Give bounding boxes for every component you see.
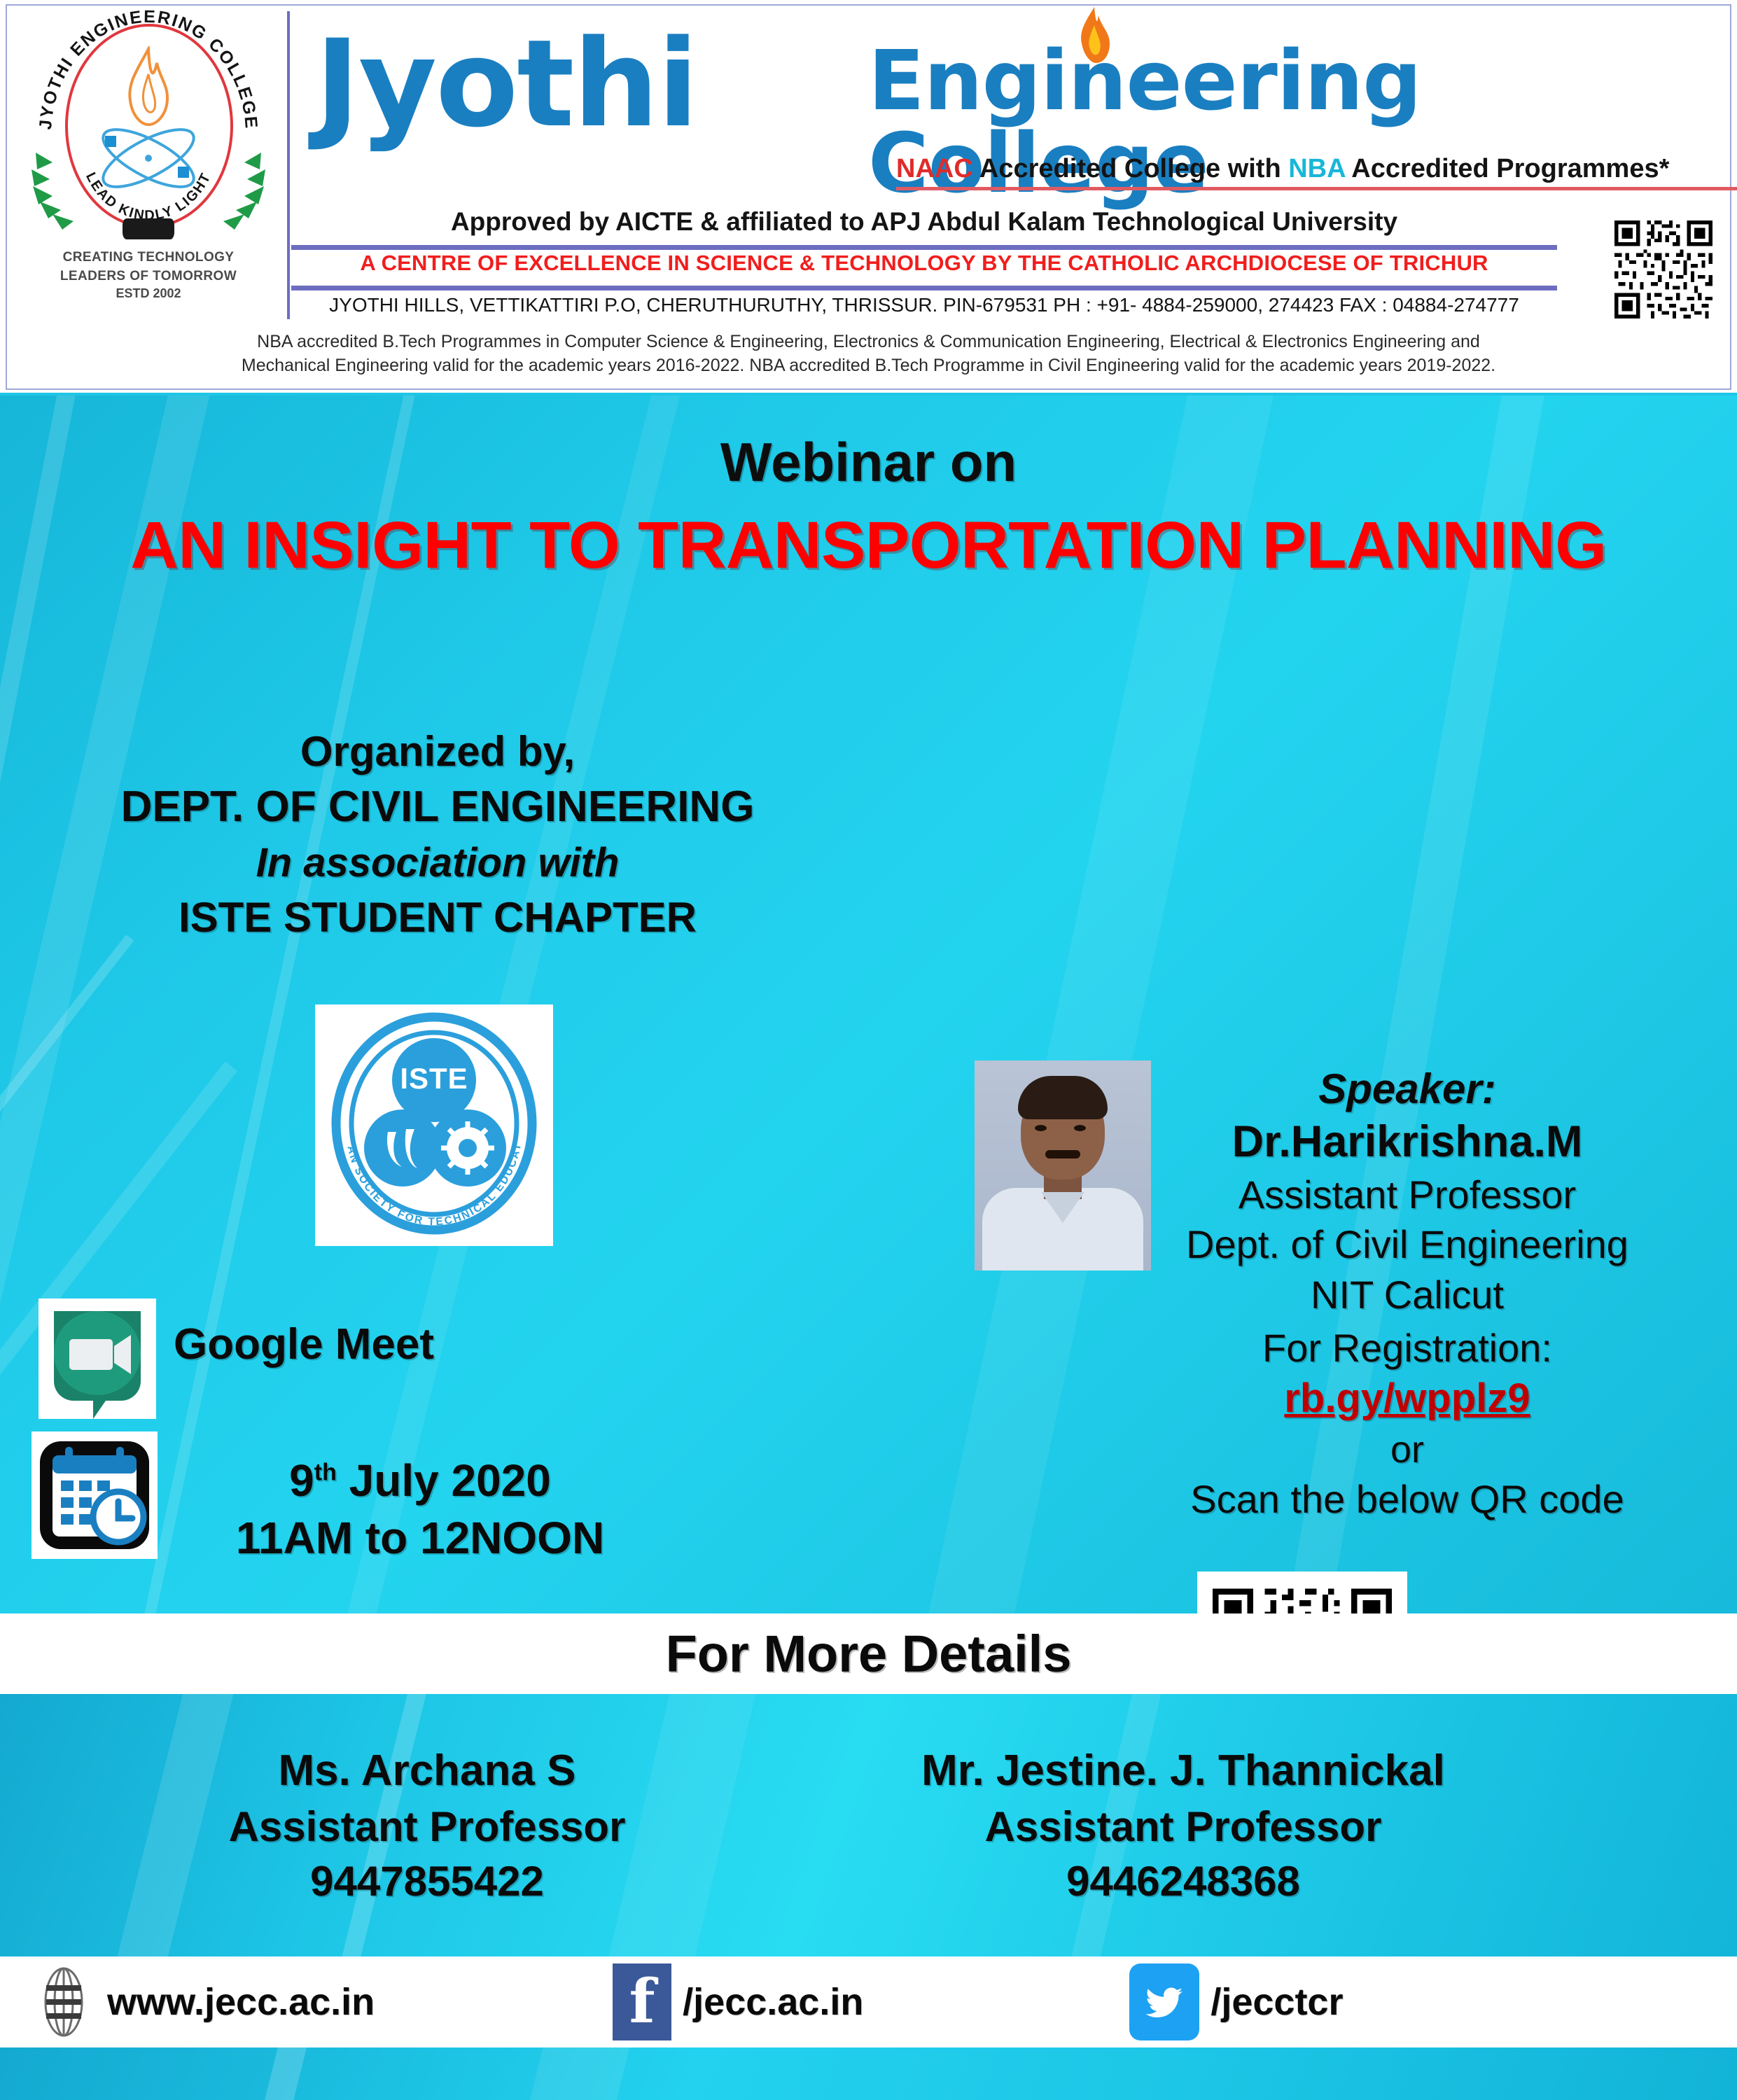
naac-label: NAAC [896,154,973,183]
iste-logo-icon: ISTE [315,1004,553,1246]
google-meet-icon [39,1298,156,1419]
nba-note-line1: NBA accredited B.Tech Programmes in Comp… [28,330,1709,354]
event-time: 11AM to 12NOON [175,1510,665,1567]
letterhead-content: Jyothi Engineering College NAAC Accredit… [301,7,1727,154]
speaker-label: Speaker: [1092,1064,1722,1114]
rule-top [291,245,1557,250]
nba-note-line2: Mechanical Engineering valid for the aca… [28,354,1709,378]
atom-icon [92,126,204,190]
brand-row: Jyothi Engineering College [301,7,1727,154]
college-address: JYOTHI HILLS, VETTIKATTIRI P.O, CHERUTHU… [291,294,1557,316]
event-date-rest: July 2020 [337,1455,551,1506]
logo-tagline-line1: CREATING TECHNOLOGY [15,249,281,265]
contacts-section: Ms. Archana S Assistant Professor 944785… [0,1694,1737,1956]
brand-flame-icon [1075,7,1114,64]
bg-streak [511,2047,636,2100]
poster-body: Webinar on AN INSIGHT TO TRANSPORTATION … [0,395,1737,1613]
scan-qr-instruction: Scan the below QR code [1092,1474,1722,1525]
calendar-clock-icon [32,1431,158,1559]
logo-estd: ESTD 2002 [15,286,281,301]
twitter-icon [1129,1963,1199,2040]
event-datetime: 9th July 2020 11AM to 12NOON [175,1452,665,1567]
event-date: 9th July 2020 [175,1452,665,1510]
footer-twitter-label: /jecctcr [1211,1980,1343,2024]
organizer-block: Organized by, DEPT. OF CIVIL ENGINEERING… [42,724,833,945]
speaker-name: Dr.Harikrishna.M [1092,1114,1722,1170]
footer-facebook-label: /jecc.ac.in [683,1980,863,2024]
contact-card: Ms. Archana S Assistant Professor 944785… [77,1743,777,1909]
contact-phone[interactable]: 9447855422 [77,1854,777,1909]
platform-label: Google Meet [174,1319,434,1369]
contact-phone[interactable]: 9446248368 [833,1854,1533,1909]
naac-suffix-text: Accredited Programmes* [1345,154,1669,183]
more-details-heading: For More Details [666,1624,1072,1683]
event-title: AN INSIGHT TO TRANSPORTATION PLANNING [0,507,1737,584]
footer-website-item[interactable]: www.jecc.ac.in [32,1967,375,2037]
speaker-moustache [1045,1150,1080,1158]
registration-label: For Registration: [1092,1323,1722,1373]
letterhead-qr-code-icon [1611,217,1716,322]
speaker-department: Dept. of Civil Engineering [1092,1219,1722,1270]
letterhead-divider [287,11,290,319]
speaker-institute: NIT Calicut [1092,1270,1722,1320]
laurel-right-icon [191,148,268,232]
contact-role: Assistant Professor [833,1800,1533,1854]
footer-facebook-item[interactable]: /jecc.ac.in [613,1963,863,2040]
speaker-details: Speaker: Dr.Harikrishna.M Assistant Prof… [1092,1064,1722,1525]
registration-qr-code[interactable] [1197,1571,1407,1613]
iste-logo-card: ISTE [315,1004,553,1246]
or-label: or [1092,1425,1722,1474]
bg-streak [244,2047,316,2100]
college-emblem-icon: JYOTHI ENGINEERING COLLEGE LEAD KINDLY L… [33,8,264,246]
approved-by-text: Approved by AICTE & affiliated to APJ Ab… [301,207,1547,237]
organizer-partner: ISTE STUDENT CHAPTER [42,890,833,945]
speaker-eye-left [1035,1125,1047,1131]
footer-twitter-item[interactable]: /jecctcr [1129,1963,1343,2040]
college-letterhead: JYOTHI ENGINEERING COLLEGE LEAD KINDLY L… [0,0,1737,395]
event-kicker: Webinar on [0,430,1737,494]
book-icon [123,218,174,239]
in-association-with-label: In association with [42,836,833,890]
speaker-eye-right [1074,1125,1086,1131]
rule-bottom [291,286,1557,290]
registration-link[interactable]: rb.gy/wpplz9 [1092,1373,1722,1424]
contact-card: Mr. Jestine. J. Thannickal Assistant Pro… [833,1743,1533,1909]
facebook-icon [613,1963,671,2040]
globe-icon [32,1967,96,2037]
contact-role: Assistant Professor [77,1800,777,1854]
event-date-day: 9 [289,1455,314,1506]
laurel-left-icon [29,148,106,232]
contact-name: Mr. Jestine. J. Thannickal [833,1743,1533,1800]
organizer-department: DEPT. OF CIVIL ENGINEERING [42,779,833,836]
footer-website-label: www.jecc.ac.in [107,1980,375,2024]
registration-qr-code-icon [1207,1581,1397,1613]
event-date-suffix: th [314,1459,337,1486]
naac-mid-text: Accredited College with [973,154,1288,183]
speaker-designation: Assistant Professor [1092,1170,1722,1220]
svg-text:ISTE: ISTE [400,1062,468,1095]
college-logo: JYOTHI ENGINEERING COLLEGE LEAD KINDLY L… [15,8,281,337]
more-details-band: For More Details [0,1613,1737,1694]
footer-bar: www.jecc.ac.in /jecc.ac.in /jecctcr [0,1956,1737,2047]
webinar-poster: JYOTHI ENGINEERING COLLEGE LEAD KINDLY L… [0,0,1737,2100]
organized-by-label: Organized by, [42,724,833,779]
logo-tagline-line2: LEADERS OF TOMORROW [15,268,281,284]
bottom-strip [0,2047,1737,2100]
nba-label: NBA [1288,154,1345,183]
brand-name-primary: Jyothi [315,24,697,144]
nba-accreditation-note: NBA accredited B.Tech Programmes in Comp… [28,330,1709,378]
naac-accreditation-line: NAAC Accredited College with NBA Accredi… [896,154,1737,190]
centre-of-excellence-text: A CENTRE OF EXCELLENCE IN SCIENCE & TECH… [291,251,1557,276]
contact-name: Ms. Archana S [77,1743,777,1800]
